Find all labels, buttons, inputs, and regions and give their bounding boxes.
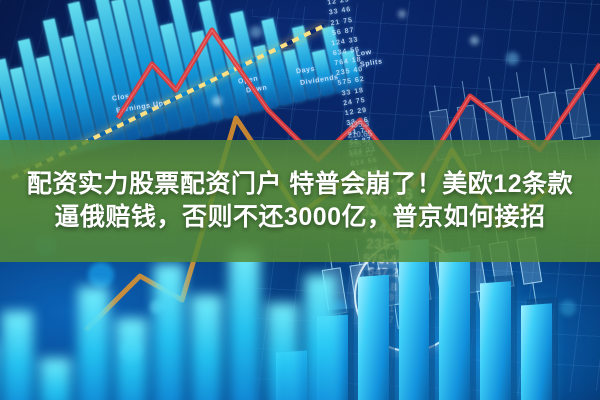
bokeh-dot bbox=[250, 26, 262, 38]
bokeh-dot bbox=[212, 96, 222, 106]
foreground-bar bbox=[267, 303, 298, 400]
candlestick bbox=[538, 92, 563, 144]
bar-3d bbox=[399, 239, 430, 400]
bokeh-dot bbox=[506, 52, 519, 65]
bar-3d bbox=[358, 275, 389, 400]
foreground-bar bbox=[191, 295, 222, 400]
headline: 配资实力股票配资门户 特普会崩了！美欧12条款 逼俄赔钱，否则不还3000亿，普… bbox=[0, 152, 600, 250]
bar-chart-foreground bbox=[0, 248, 336, 400]
foreground-bar bbox=[40, 358, 71, 400]
banner-image: 33 1824 7512 2933 4621 7556 87124 33634 … bbox=[0, 0, 600, 400]
foreground-bar bbox=[116, 318, 147, 400]
foreground-bar bbox=[154, 264, 185, 400]
headline-line-2: 逼俄赔钱，否则不还3000亿，普京如何接招 bbox=[54, 203, 545, 232]
foreground-bar bbox=[305, 275, 336, 400]
bokeh-dot bbox=[398, 10, 406, 18]
foreground-bar bbox=[2, 311, 33, 400]
bokeh-dot bbox=[470, 36, 479, 45]
bar-3d bbox=[521, 304, 552, 400]
headline-line-1: 配资实力股票配资门户 特普会崩了！美欧12条款 bbox=[27, 170, 573, 199]
foreground-bar bbox=[229, 248, 260, 400]
bar-3d bbox=[439, 251, 470, 400]
bar-3d bbox=[480, 281, 511, 400]
bokeh-dot bbox=[560, 300, 576, 316]
foreground-bar bbox=[78, 287, 109, 400]
